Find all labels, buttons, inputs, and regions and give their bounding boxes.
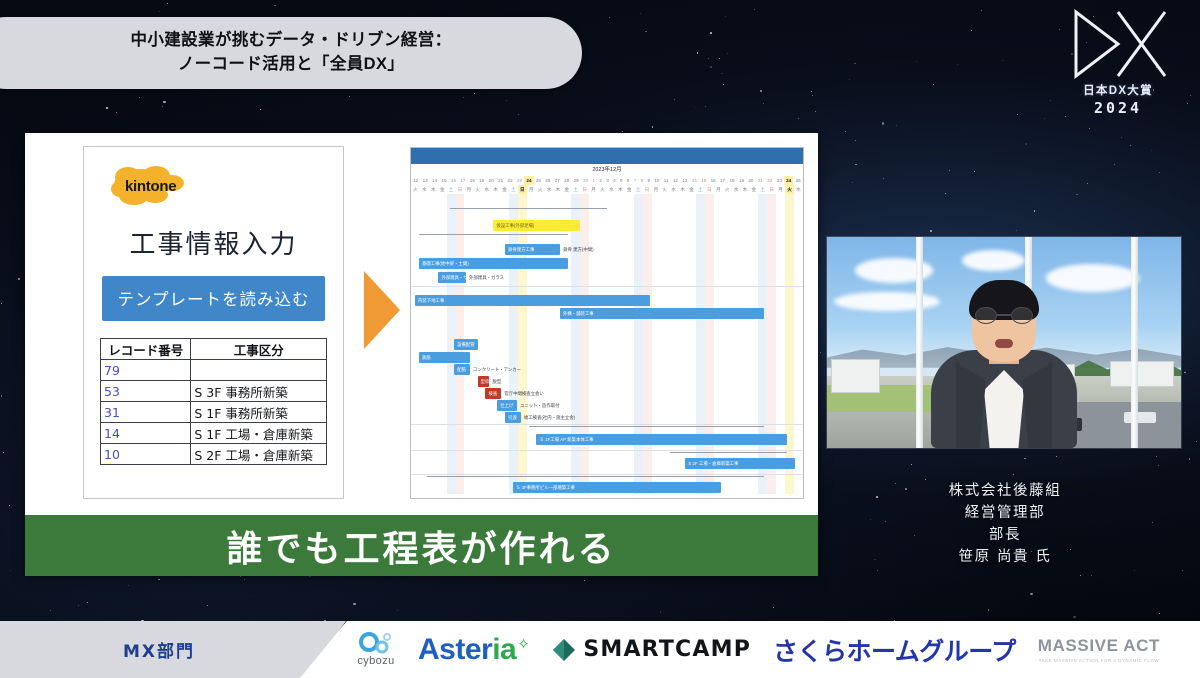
- cell-work-type: [191, 360, 327, 381]
- gantt-weekday-cell: 月: [651, 185, 660, 194]
- gantt-chart-panel: 2023年12月 1213141516171819202122232425262…: [410, 147, 804, 499]
- gantt-column-stripe: [509, 194, 518, 494]
- gantt-weekday-cell: 土: [509, 185, 518, 194]
- speaker-department: 経営管理部: [836, 502, 1174, 524]
- cell-record-number[interactable]: 79: [101, 360, 191, 381]
- gantt-task-bar[interactable]: 引渡: [505, 412, 521, 423]
- slide-tagline-banner: 誰でも工程表が作れる: [25, 515, 818, 576]
- gantt-day-cell: 25: [534, 176, 543, 185]
- sakura-wordmark: さくらホームグループ: [773, 632, 1016, 668]
- gantt-day-cell: 24: [524, 176, 533, 185]
- gantt-weekday-cell: 水: [669, 185, 678, 194]
- gantt-task-label: 竣工検査(社内・施主立会): [524, 412, 575, 423]
- cell-record-number[interactable]: 10: [101, 444, 191, 465]
- gantt-day-cell: 15: [439, 176, 448, 185]
- gantt-weekday-cell: 金: [500, 185, 509, 194]
- cell-work-type: S 3F 事務所新築: [191, 381, 327, 402]
- right-arrow-icon: [364, 271, 400, 349]
- gantt-day-cell: 29: [571, 176, 580, 185]
- gantt-weekday-cell: 月: [527, 185, 536, 194]
- gantt-day-cell: 23: [515, 176, 524, 185]
- gantt-summary-line: [529, 426, 764, 427]
- gantt-weekday-cell: 水: [420, 185, 429, 194]
- gantt-day-cell: 6: [625, 176, 632, 185]
- kintone-app-card: kintone 工事情報入力 テンプレートを読み込む レコード番号 工事区分 7…: [83, 146, 344, 499]
- gantt-toolbar: [411, 148, 803, 164]
- gantt-weekday-cell: 日: [456, 185, 465, 194]
- table-row[interactable]: 10S 2F 工場・倉庫新築: [101, 444, 327, 465]
- slide-tagline-text: 誰でも工程表が作れる: [226, 520, 616, 572]
- speaker-caption: 株式会社後藤組 経営管理部 部長 笹原 尚貴 氏: [836, 480, 1174, 568]
- cell-record-number[interactable]: 14: [101, 423, 191, 444]
- gantt-day-cell: 20: [746, 176, 755, 185]
- gantt-column-stripe: [767, 194, 776, 494]
- speaker-video-feed[interactable]: [827, 237, 1181, 448]
- gantt-grid: 仮設工事(外部足場)鉄骨建方工事鉄骨 建方(中間)基礎工事(地中梁・土間)外部建…: [411, 194, 803, 494]
- gantt-task-label: 脱型: [493, 376, 502, 387]
- gantt-task-bar[interactable]: 設備配管: [454, 339, 478, 350]
- gantt-task-label: 鉄骨 建方(中間): [563, 244, 594, 255]
- gantt-day-cell: 2: [597, 176, 604, 185]
- gantt-column-stripe: [634, 194, 643, 494]
- gantt-row-separator: [411, 474, 803, 475]
- gantt-weekday-cell: 火: [598, 185, 607, 194]
- gantt-day-cell: 1: [590, 176, 597, 185]
- gantt-row-separator: [411, 286, 803, 287]
- load-template-button[interactable]: テンプレートを読み込む: [102, 276, 325, 321]
- gantt-weekday-cell: 土: [447, 185, 456, 194]
- gantt-weekday-cell: 金: [625, 185, 634, 194]
- gantt-weekday-cell: 火: [723, 185, 732, 194]
- gantt-weekday-cell: 日: [643, 185, 652, 194]
- massive-act-wordmark: MASSIVE ACT: [1038, 636, 1160, 656]
- gantt-day-cell: 27: [553, 176, 562, 185]
- session-title-line-1: 中小建設業が挑むデータ・ドリブン経営：: [130, 29, 451, 53]
- gantt-summary-line: [450, 208, 607, 209]
- gantt-day-cell: 10: [652, 176, 661, 185]
- gantt-weekday-cell: 日: [580, 185, 589, 194]
- gantt-weekday-cell: 火: [411, 185, 420, 194]
- cell-work-type: S 1F 工場・倉庫新築: [191, 423, 327, 444]
- gantt-weekday-cell: 水: [545, 185, 554, 194]
- sponsor-bar: MX部門 cybozu Asteria✧ SMARTCAMP: [0, 621, 1200, 678]
- gantt-column-stripe: [758, 194, 767, 494]
- gantt-day-cell: 9: [645, 176, 652, 185]
- gantt-day-cell: 14: [430, 176, 439, 185]
- sponsor-logo-sakura-home-group[interactable]: さくらホームグループ: [773, 632, 1016, 668]
- video-car: [1124, 412, 1156, 423]
- video-window-mullion: [1131, 237, 1138, 448]
- gantt-task-bar[interactable]: Ｓ 3F事務所ビル一部増築工事: [513, 482, 721, 493]
- gantt-task-label: ユニット・造作取付: [520, 400, 560, 411]
- gantt-day-cell: 28: [562, 176, 571, 185]
- award-logo: 日本DX大賞 2024: [1056, 8, 1180, 130]
- gantt-day-cell: 23: [775, 176, 784, 185]
- gantt-weekday-cell: 土: [758, 185, 767, 194]
- gantt-task-bar[interactable]: 配筋: [454, 364, 470, 375]
- gantt-task-bar[interactable]: 型枠: [478, 376, 490, 387]
- gantt-day-cell: 18: [468, 176, 477, 185]
- gantt-weekday-cell: 火: [660, 185, 669, 194]
- table-row[interactable]: 53S 3F 事務所新築: [101, 381, 327, 402]
- presentation-slide: kintone 工事情報入力 テンプレートを読み込む レコード番号 工事区分 7…: [25, 133, 818, 576]
- speaker-mouth: [995, 339, 1013, 348]
- gantt-day-cell: 15: [699, 176, 708, 185]
- sponsor-logo-asteria[interactable]: Asteria✧: [418, 633, 529, 667]
- gantt-column-stripe: [785, 194, 794, 494]
- cybozu-wordmark: cybozu: [357, 655, 394, 667]
- column-header-work-type: 工事区分: [191, 339, 327, 360]
- gantt-day-cell: 30: [581, 176, 590, 185]
- gantt-summary-line: [427, 476, 764, 477]
- gantt-weekday-cell: 木: [554, 185, 563, 194]
- gantt-weekday-header: 火水木金土日月火水木金土日月火水木金土日月火水木金土日月火水木金土日月火水木金土…: [411, 185, 803, 194]
- sponsor-logo-massive-act[interactable]: MASSIVE ACT TAKE MASSIVE ACTION FOR A DY…: [1038, 636, 1160, 663]
- gantt-summary-line: [419, 234, 568, 235]
- gantt-weekday-cell: 日: [705, 185, 714, 194]
- speaker-position: 部長: [836, 524, 1174, 546]
- gantt-month-label: 2023年12月: [411, 164, 803, 176]
- table-row[interactable]: 79: [101, 360, 327, 381]
- gantt-day-cell: 16: [708, 176, 717, 185]
- gantt-day-cell: 11: [662, 176, 671, 185]
- video-cloud: [834, 292, 940, 311]
- gantt-weekday-cell: 木: [678, 185, 687, 194]
- gantt-task-bar[interactable]: 内装下地工事: [415, 295, 650, 306]
- broadcast-stage: 中小建設業が挑むデータ・ドリブン経営： ノーコード活用と「全員DX」 日本DX大…: [0, 0, 1200, 678]
- gantt-day-cell: 14: [690, 176, 699, 185]
- video-building: [831, 359, 881, 393]
- gantt-task-bar[interactable]: 基礎工事(地中梁・土間): [419, 258, 568, 269]
- dx-monogram-icon: [1066, 8, 1170, 80]
- video-building: [1110, 361, 1174, 386]
- table-header-row: レコード番号 工事区分: [101, 339, 327, 360]
- record-table: レコード番号 工事区分 7953S 3F 事務所新築31S 1F 事務所新築14…: [100, 338, 327, 465]
- award-name-jp: 日本DX大賞: [1083, 82, 1153, 98]
- sponsor-logo-smartcamp[interactable]: SMARTCAMP: [551, 637, 751, 663]
- gantt-weekday-cell: 木: [429, 185, 438, 194]
- table-row[interactable]: 14S 1F 工場・倉庫新築: [101, 423, 327, 444]
- gantt-column-stripe: [580, 194, 589, 494]
- asteria-sparkle-icon: ✧: [517, 635, 529, 653]
- cell-record-number[interactable]: 53: [101, 381, 191, 402]
- gantt-column-stripe: [705, 194, 714, 494]
- gantt-weekday-cell: 木: [491, 185, 500, 194]
- kintone-logo: kintone: [110, 163, 214, 213]
- gantt-weekday-cell: 土: [696, 185, 705, 194]
- gantt-day-cell: 8: [638, 176, 645, 185]
- gantt-task-bar[interactable]: 仮設工事(外部足場): [493, 220, 579, 231]
- asteria-wordmark-part1: Aster: [418, 633, 492, 667]
- gantt-weekday-cell: 水: [482, 185, 491, 194]
- gantt-task-bar[interactable]: 鉄筋: [419, 352, 470, 363]
- cell-record-number[interactable]: 31: [101, 402, 191, 423]
- gantt-weekday-cell: 月: [464, 185, 473, 194]
- table-body: 7953S 3F 事務所新築31S 1F 事務所新築14S 1F 工場・倉庫新築…: [101, 360, 327, 465]
- glasses-icon: [975, 307, 1033, 324]
- gantt-day-cell: 12: [411, 176, 420, 185]
- gantt-day-cell: 13: [420, 176, 429, 185]
- gantt-weekday-cell: 火: [536, 185, 545, 194]
- gantt-column-stripe: [518, 194, 527, 494]
- gantt-day-cell: 25: [793, 176, 802, 185]
- gantt-day-header: 1213141516171819202122232425262728293012…: [411, 176, 803, 185]
- table-row[interactable]: 31S 1F 事務所新築: [101, 402, 327, 423]
- speaker-name: 笹原 尚貴 氏: [836, 546, 1174, 568]
- gantt-weekday-cell: 日: [518, 185, 527, 194]
- gantt-weekday-cell: 土: [634, 185, 643, 194]
- gantt-task-label: コンクリート・アンカー: [473, 364, 521, 375]
- category-label: MX部門: [123, 637, 195, 662]
- gantt-weekday-cell: 金: [687, 185, 696, 194]
- gantt-day-cell: 17: [458, 176, 467, 185]
- gantt-column-stripe: [571, 194, 580, 494]
- slide-body: kintone 工事情報入力 テンプレートを読み込む レコード番号 工事区分 7…: [25, 133, 818, 515]
- gantt-weekday-cell: 火: [473, 185, 482, 194]
- gantt-day-cell: 19: [737, 176, 746, 185]
- gantt-day-cell: 21: [496, 176, 505, 185]
- gantt-weekday-cell: 木: [616, 185, 625, 194]
- gantt-day-cell: 21: [756, 176, 765, 185]
- gantt-column-stripe: [643, 194, 652, 494]
- cybozu-bubbles-icon: [356, 632, 396, 654]
- gantt-task-bar[interactable]: 仕上げ: [497, 400, 517, 411]
- massive-act-tagline: TAKE MASSIVE ACTION FOR A DYNAMIC FLOW: [1039, 658, 1159, 663]
- gantt-row-separator: [411, 450, 803, 451]
- speaker-figure: [929, 296, 1079, 448]
- gantt-day-cell: 7: [632, 176, 639, 185]
- category-label-panel: MX部門: [0, 621, 346, 678]
- gantt-weekday-cell: 日: [767, 185, 776, 194]
- gantt-column-stripe: [696, 194, 705, 494]
- gantt-weekday-cell: 水: [607, 185, 616, 194]
- gantt-weekday-cell: 木: [741, 185, 750, 194]
- award-year: 2024: [1094, 99, 1142, 117]
- gantt-weekday-cell: 火: [785, 185, 794, 194]
- smartcamp-wordmark: SMARTCAMP: [583, 637, 751, 662]
- cell-work-type: S 1F 事務所新築: [191, 402, 327, 423]
- video-cloud: [962, 250, 1026, 271]
- gantt-task-bar[interactable]: 鉄骨建方工事: [505, 244, 560, 255]
- gantt-task-label: 外部建具・ガラス: [469, 272, 504, 283]
- gantt-day-cell: 22: [765, 176, 774, 185]
- gantt-weekday-cell: 月: [589, 185, 598, 194]
- gantt-task-bar[interactable]: Ｓ 1F工場 AP 新築本体工事: [536, 434, 787, 445]
- gantt-weekday-cell: 金: [438, 185, 447, 194]
- gantt-summary-line: [670, 452, 788, 453]
- gantt-day-cell: 16: [449, 176, 458, 185]
- sponsor-logo-cybozu[interactable]: cybozu: [356, 632, 396, 667]
- gantt-day-cell: 13: [680, 176, 689, 185]
- speaker-company: 株式会社後藤組: [836, 480, 1174, 502]
- gantt-day-cell: 19: [477, 176, 486, 185]
- gantt-task-bar[interactable]: S 2F 工場・倉庫新築工事: [685, 458, 795, 469]
- gantt-weekday-cell: 月: [776, 185, 785, 194]
- gantt-day-cell: 17: [718, 176, 727, 185]
- sponsor-logos-panel: cybozu Asteria✧ SMARTCAMP さくらホームグループ MAS…: [300, 621, 1200, 678]
- gantt-weekday-cell: 金: [749, 185, 758, 194]
- video-window-mullion: [916, 237, 923, 448]
- gantt-weekday-cell: 水: [794, 185, 803, 194]
- gantt-day-cell: 5: [618, 176, 625, 185]
- gantt-weekday-cell: 水: [732, 185, 741, 194]
- gantt-day-cell: 26: [543, 176, 552, 185]
- kintone-app-title: 工事情報入力: [96, 224, 331, 261]
- gantt-weekday-cell: 月: [714, 185, 723, 194]
- gantt-day-cell: 18: [727, 176, 736, 185]
- smartcamp-diamond-icon: [551, 637, 577, 663]
- gantt-day-cell: 22: [505, 176, 514, 185]
- gantt-row-separator: [411, 424, 803, 425]
- gantt-day-cell: 4: [611, 176, 618, 185]
- gantt-weekday-cell: 金: [562, 185, 571, 194]
- session-title-line-2: ノーコード活用と「全員DX」: [178, 53, 405, 77]
- gantt-weekday-cell: 土: [571, 185, 580, 194]
- gantt-task-bar[interactable]: 検査: [485, 388, 501, 399]
- gantt-day-cell: 20: [487, 176, 496, 185]
- asteria-wordmark-part2: ia: [492, 633, 516, 667]
- gantt-day-cell: 12: [671, 176, 680, 185]
- gantt-day-cell: 3: [604, 176, 611, 185]
- gantt-task-label: 官庁中間検査立会い: [504, 388, 544, 399]
- gantt-day-cell: 24: [784, 176, 793, 185]
- cell-work-type: S 2F 工場・倉庫新築: [191, 444, 327, 465]
- session-title-banner: 中小建設業が挑むデータ・ドリブン経営： ノーコード活用と「全員DX」: [0, 17, 582, 89]
- gantt-task-bar[interactable]: 外部建具・サッシ取付: [438, 272, 465, 283]
- video-cloud: [1046, 264, 1138, 291]
- kintone-wordmark: kintone: [125, 178, 176, 195]
- column-header-record-number: レコード番号: [101, 339, 191, 360]
- gantt-task-bar[interactable]: 外構・舗装工事: [560, 308, 764, 319]
